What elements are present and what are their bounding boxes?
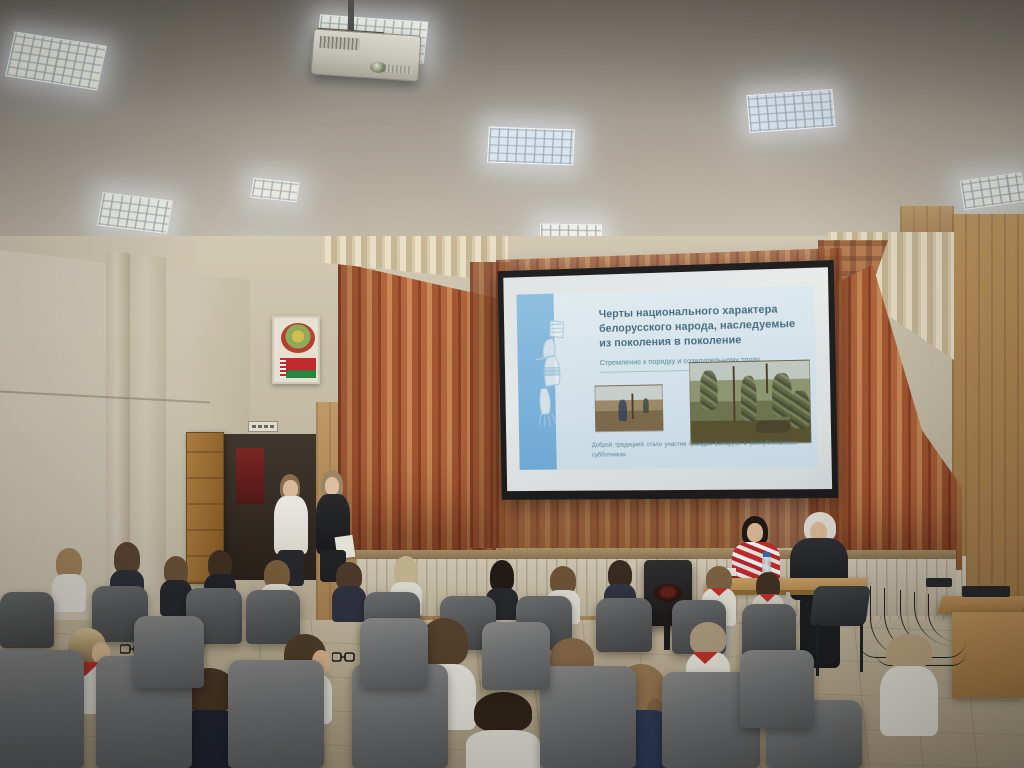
head: [325, 477, 339, 495]
auditorium-seat[interactable]: [740, 650, 814, 728]
audience-member: [466, 692, 540, 768]
slide-caption: Доброй традицией стало участие граждан Б…: [592, 439, 798, 460]
figure: [741, 376, 757, 422]
figure: [618, 400, 627, 422]
coat-of-arms-frame: [272, 316, 320, 384]
torso: [332, 586, 366, 622]
head: [747, 523, 763, 542]
sapling: [733, 366, 736, 421]
bottle-cap: [763, 552, 770, 557]
audience-member-glasses: [332, 650, 346, 664]
slide-photo-right: [689, 360, 811, 445]
sapling: [631, 394, 633, 419]
coat-of-arms-of-belarus-icon: [281, 323, 315, 353]
audience-member: [52, 548, 86, 610]
presentation-slide: Черты национального характера белорусско…: [516, 286, 817, 470]
auditorium-seat[interactable]: [482, 622, 550, 690]
hair-short: [690, 622, 726, 654]
av-equipment[interactable]: [962, 586, 1010, 597]
stage-lip: [356, 550, 956, 559]
projection-screen: Черты национального характера белорусско…: [498, 260, 839, 500]
speaker-stand: [664, 624, 670, 650]
chair-back[interactable]: [809, 586, 871, 626]
hair: [474, 692, 532, 732]
ceiling: [0, 0, 1024, 262]
folk-ornament-icon: [532, 316, 579, 431]
slide-photo-left: [594, 384, 663, 432]
sapling: [766, 363, 768, 393]
flag-ornament-icon: [280, 358, 286, 378]
projector-vent: [384, 64, 412, 74]
torso: [52, 574, 86, 612]
auditorium-seat[interactable]: [360, 618, 428, 688]
chair-leg: [816, 624, 819, 676]
hair-short: [886, 634, 932, 668]
auditorium-seat[interactable]: [596, 598, 652, 652]
figure: [700, 370, 718, 410]
torso-white-shirt: [466, 730, 540, 768]
ceiling-projector: [311, 28, 422, 81]
screen-surface: Черты национального характера белорусско…: [503, 267, 832, 491]
auditorium-seat[interactable]: [228, 660, 324, 768]
auditorium-photo: Черты национального характера белорусско…: [0, 0, 1024, 768]
torso-white-blouse: [274, 496, 308, 554]
torso-white-shirt: [880, 666, 938, 736]
auditorium-seat[interactable]: [134, 616, 204, 688]
glasses-icon: [332, 651, 356, 663]
audience-member: [332, 562, 366, 620]
auditorium-seat[interactable]: [540, 666, 636, 768]
wood-wall-panel: [900, 206, 954, 236]
audience-member: [880, 634, 938, 734]
figure: [790, 390, 810, 428]
room-sign: [248, 421, 278, 432]
fire-cabinet: [236, 448, 264, 504]
speaker-cone: [654, 584, 682, 602]
ceiling-light-panel: [746, 89, 835, 133]
figure: [755, 421, 790, 433]
auditorium-seat[interactable]: [0, 592, 54, 648]
figure: [643, 398, 649, 413]
slide-title: Черты национального характера белорусско…: [599, 302, 806, 352]
ceiling-light-panel: [487, 127, 575, 166]
auditorium-seat[interactable]: [0, 650, 84, 768]
projector-vent: [319, 36, 360, 51]
